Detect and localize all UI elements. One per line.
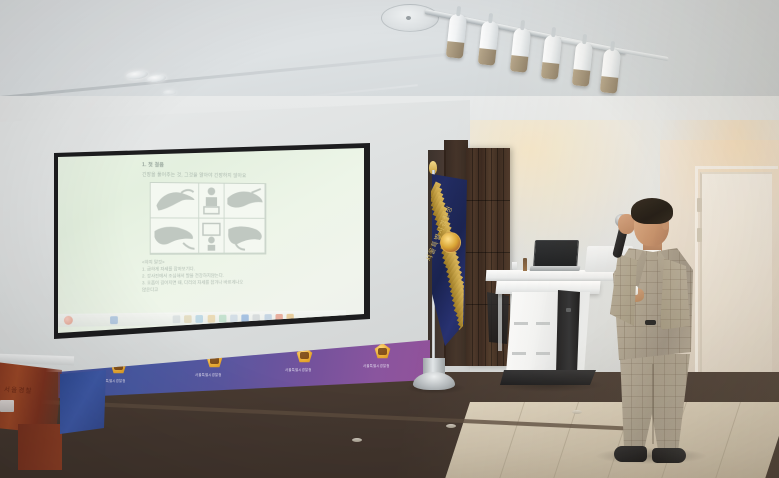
powerpoint-icon[interactable] (241, 314, 248, 322)
wood-panel-seam (466, 200, 510, 201)
start-orb-icon[interactable] (64, 316, 73, 325)
floor-light-icon (352, 438, 362, 442)
hand-gesture-icon (153, 185, 197, 215)
figure-cell-3 (225, 184, 266, 219)
mail-icon[interactable] (207, 314, 215, 322)
podium-trim-slot (536, 352, 550, 355)
laptop-keyboard[interactable] (529, 266, 580, 271)
emblem-label: 서울특별시경찰청 (363, 363, 390, 368)
presenter (600, 196, 715, 478)
wristwatch-icon (645, 320, 656, 325)
podium-base (500, 370, 596, 385)
person-standing-icon (200, 221, 223, 250)
hand-gesture-icon (225, 186, 264, 215)
explorer-icon[interactable] (110, 316, 118, 324)
explorer-icon[interactable] (173, 315, 181, 323)
cup (512, 262, 517, 270)
podium-trim-slot (514, 322, 528, 325)
chat-icon[interactable] (219, 314, 226, 322)
document-icon[interactable] (230, 314, 237, 322)
tile-grout-line (498, 402, 525, 478)
figure-cell-4 (151, 218, 200, 253)
slide-body-text: <하지 말것>1. 급하게 자세를 잡아보기다.2. 강사진에서 조심해서 발을… (142, 258, 243, 293)
hand-gesture-icon (225, 221, 265, 250)
emblem-label: 서울특별시경찰청 (285, 367, 312, 372)
recessed-light-icon (163, 90, 176, 95)
emblem-label: 서울특별시경찰청 (195, 372, 222, 377)
person-seated-icon (200, 186, 223, 215)
projection-screen: 1. 첫 걸음 긴장을 풀어주는 것, 그것을 알아야 긴장하지 않아요 (56, 147, 364, 333)
hand-gesture-icon (153, 221, 197, 250)
wood-slat (472, 148, 473, 366)
police-emblem-icon (374, 343, 391, 360)
presenter-trousers (620, 354, 690, 452)
podium-front-panel (556, 290, 580, 374)
projected-slide: 1. 첫 걸음 긴장을 풀어주는 것, 그것을 알아야 긴장하지 않아요 (56, 147, 346, 333)
trouser-seam (652, 364, 654, 444)
presenter-shoe-left (614, 446, 647, 462)
wall-socket-icon (0, 400, 14, 412)
podium-trim-slot (512, 352, 526, 355)
slide-subheading: 긴장을 풀어주는 것, 그것을 알아야 긴장하지 않아요 (142, 171, 246, 179)
folder-icon[interactable] (184, 315, 192, 323)
wood-desk-lower (18, 424, 62, 470)
laptop-screen[interactable] (533, 240, 579, 269)
presenter-arm-right (610, 254, 637, 326)
presenter-shoe-right (652, 448, 686, 463)
floor-light-icon (572, 410, 582, 414)
tile-grout-line (714, 402, 741, 478)
bottle (523, 258, 527, 271)
slide-body-line: 않은다고 (142, 285, 243, 293)
seminar-room-photo: 1. 첫 걸음 긴장을 풀어주는 것, 그것을 알아야 긴장하지 않아요 (0, 0, 779, 478)
blue-side-panel (60, 370, 106, 434)
figure-cell-2 (199, 183, 224, 218)
ceiling-plate (381, 4, 439, 32)
figure-cell-1 (151, 183, 200, 219)
browser-icon[interactable] (196, 315, 204, 323)
wood-panel-seam (466, 252, 510, 253)
slide-figure-grid (150, 182, 267, 255)
slide-body-line: 3. 호흡이 길어지면 때, 다리의 자세를 잡거나 바르게나오 (142, 279, 243, 287)
presenter-hair (631, 198, 673, 224)
figure-cell-5 (199, 219, 224, 254)
media-icon[interactable] (253, 314, 260, 322)
floor-light-icon (446, 424, 456, 428)
podium-trim-slot (536, 322, 550, 325)
flag-stand-base (413, 372, 455, 390)
figure-cell-6 (225, 219, 266, 254)
slide-heading: 1. 첫 걸음 (142, 161, 164, 168)
podium-control-button[interactable] (566, 308, 571, 312)
wood-slat (478, 148, 479, 366)
wood-slat (485, 148, 486, 366)
presenter-arm-left (660, 258, 690, 330)
